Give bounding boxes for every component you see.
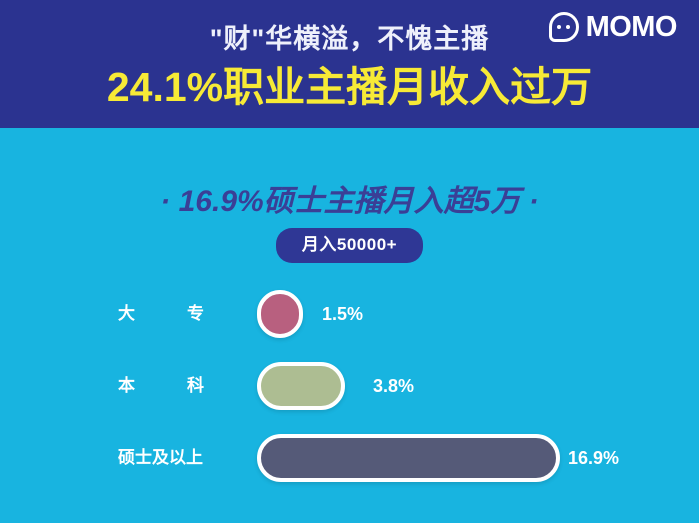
bar-category-label: 硕士及以上: [118, 448, 248, 468]
bar-row: 硕士及以上 16.9%: [0, 422, 699, 494]
bar-track: [257, 362, 345, 410]
momo-eye-left-icon: [557, 25, 561, 29]
momo-eye-right-icon: [566, 25, 570, 29]
bar-category-label: 本科: [118, 376, 248, 396]
bar-fill: [257, 434, 560, 482]
section-heading: · 16.9%硕士主播月入超5万 ·: [0, 183, 699, 221]
header-band: "财"华横溢，不愧主播 24.1%职业主播月收入过万 MOMO: [0, 0, 699, 128]
momo-wordmark: MOMO: [586, 12, 677, 42]
infographic-poster: "财"华横溢，不愧主播 24.1%职业主播月收入过万 MOMO · 16.9%硕…: [0, 0, 699, 523]
bar-value-label: 1.5%: [322, 304, 363, 324]
bar-value-label: 16.9%: [568, 448, 619, 468]
badge-row: 月入50000+: [0, 228, 699, 263]
bar-fill: [257, 362, 345, 410]
header-title: 24.1%职业主播月收入过万: [0, 62, 699, 112]
bar-chart: 大专 1.5% 本科 3.8% 硕士及以上 16.9%: [0, 278, 699, 494]
bar-fill: [257, 290, 303, 338]
bar-row: 本科 3.8%: [0, 350, 699, 422]
momo-logo: MOMO: [549, 10, 677, 44]
bar-row: 大专 1.5%: [0, 278, 699, 350]
bar-category-label: 大专: [118, 304, 248, 324]
momo-speech-bubble-icon: [549, 12, 579, 42]
income-badge: 月入50000+: [276, 228, 423, 263]
bar-value-label: 3.8%: [373, 376, 414, 396]
body-area: · 16.9%硕士主播月入超5万 · 月入50000+ 大专 1.5% 本科 3…: [0, 128, 699, 523]
bar-track: [257, 434, 560, 482]
bar-track: [257, 290, 303, 338]
